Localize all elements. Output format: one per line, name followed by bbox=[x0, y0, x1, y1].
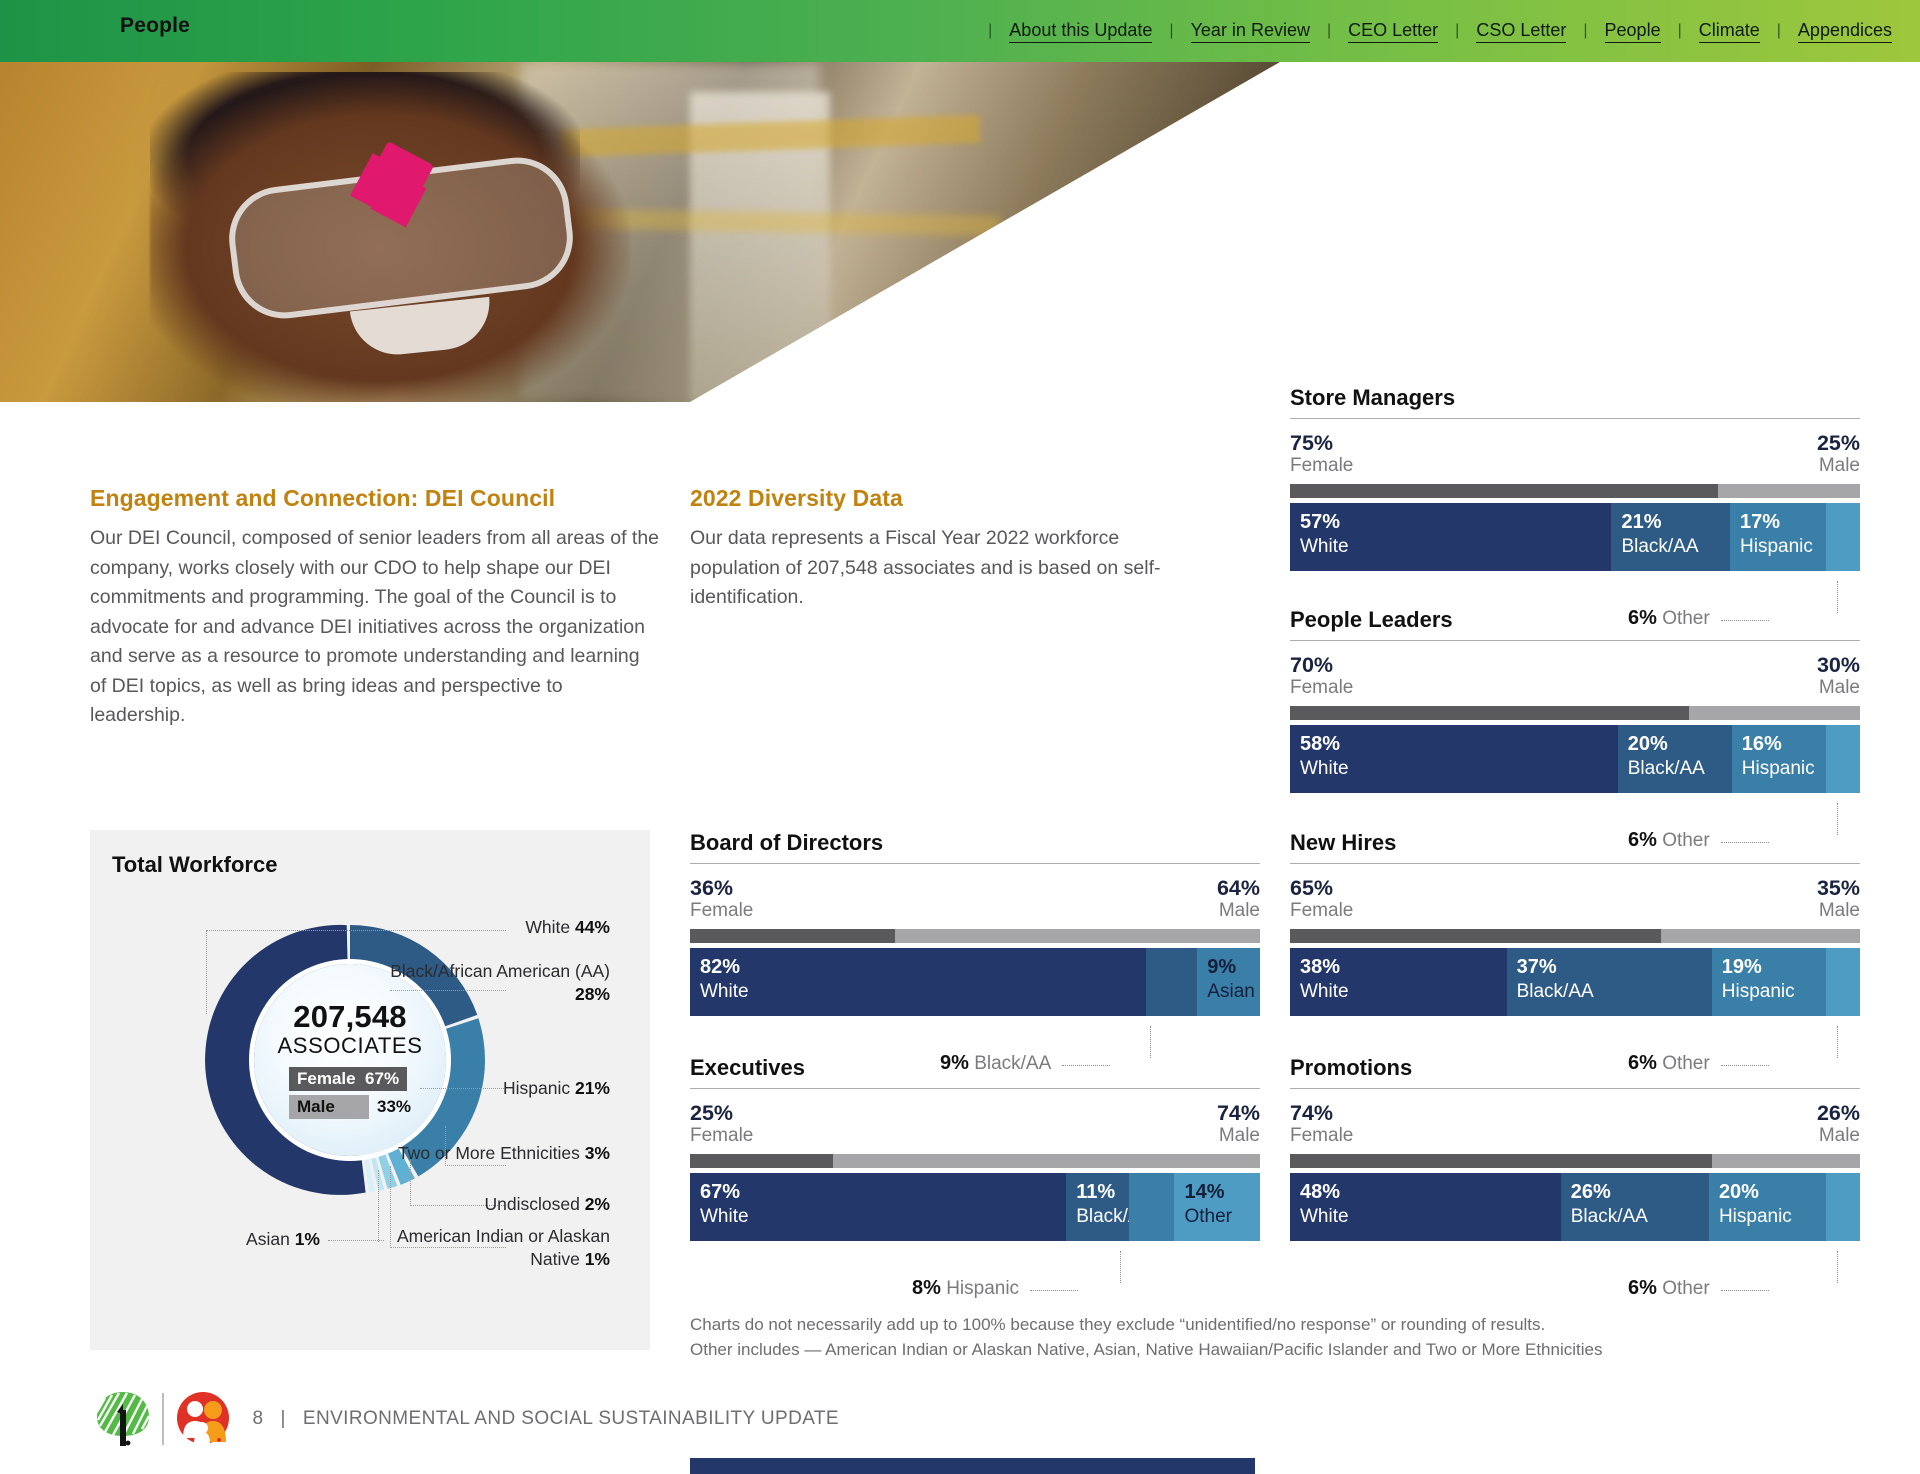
callout-dotted-line bbox=[1721, 1290, 1769, 1291]
segment-percent: 11% bbox=[1076, 1181, 1115, 1204]
donut-leader-two-or-more bbox=[445, 1165, 506, 1166]
segment-label: Hispanic bbox=[1719, 1206, 1792, 1228]
chart-promotions: Promotions 74% Female 26% Male 48% White… bbox=[1290, 1055, 1860, 1241]
donut-label-two-or-more-value: 3% bbox=[585, 1143, 610, 1163]
nav-link-appendices[interactable]: Appendices bbox=[1798, 20, 1892, 43]
board-gender-labels: 36% Female 64% Male bbox=[690, 876, 1260, 921]
hero-right-fill bbox=[1280, 62, 1920, 407]
segment-label: Black/AA bbox=[1076, 1206, 1129, 1228]
ethnicity-segment-black-aa: 20% Black/AA bbox=[1618, 725, 1732, 793]
segment-percent: 21% bbox=[1621, 511, 1661, 534]
footnote-line-2: Other includes — American Indian or Alas… bbox=[690, 1337, 1710, 1362]
gender-female-group: 25% Female bbox=[690, 1101, 753, 1146]
donut-label-undisclosed-text: Undisclosed bbox=[485, 1194, 580, 1214]
nav-link-year-in-review[interactable]: Year in Review bbox=[1191, 20, 1310, 43]
total-workforce-title: Total Workforce bbox=[112, 852, 277, 878]
ethnicity-segment-asian: 9% Asian bbox=[1197, 948, 1260, 1016]
nav-link-climate[interactable]: Climate bbox=[1699, 20, 1760, 43]
nav-link-ceo-letter[interactable]: CEO Letter bbox=[1348, 20, 1438, 43]
donut-label-two-or-more-text: Two or More Ethnicities bbox=[398, 1143, 580, 1163]
promotions-other-callout: 6% Other bbox=[1628, 1277, 1769, 1300]
gender-bar-male-segment bbox=[1661, 929, 1861, 943]
donut-label-asian-value: 1% bbox=[295, 1229, 320, 1249]
segment-label: Other bbox=[1184, 1206, 1232, 1228]
people-leaders-gender-bar bbox=[1290, 706, 1860, 720]
ethnicity-segment-white: 67% White bbox=[690, 1173, 1066, 1241]
store-managers-gender-bar bbox=[1290, 484, 1860, 498]
segment-label: Black/AA bbox=[1517, 981, 1594, 1003]
female-label: Female bbox=[690, 1125, 753, 1146]
divider-line bbox=[1290, 640, 1860, 641]
gender-bar-female-segment bbox=[1290, 706, 1689, 720]
callout-label: Hispanic bbox=[946, 1278, 1019, 1299]
ethnicity-segment-hispanic: 16% Hispanic bbox=[1732, 725, 1826, 793]
ethnicity-segment-white: 48% White bbox=[1290, 1173, 1561, 1241]
gender-bar-male-segment bbox=[833, 1154, 1261, 1168]
female-label: Female bbox=[1290, 677, 1353, 698]
segment-label: Hispanic bbox=[1722, 981, 1795, 1003]
promotions-gender-bar bbox=[1290, 1154, 1860, 1168]
gender-male-group: 64% Male bbox=[1217, 876, 1260, 921]
donut-label-hispanic: Hispanic 21% bbox=[390, 1077, 610, 1100]
male-label: Male bbox=[1817, 677, 1860, 698]
ethnicity-segment-white: 57% White bbox=[1290, 503, 1611, 571]
ethnicity-segment-white: 82% White bbox=[690, 948, 1146, 1016]
chart-new-hires: New Hires 65% Female 35% Male 38% White … bbox=[1290, 830, 1860, 1016]
dei-council-heading: Engagement and Connection: DEI Council bbox=[90, 485, 660, 512]
donut-male-chip: Male bbox=[289, 1095, 369, 1119]
segment-percent: 20% bbox=[1719, 1181, 1759, 1204]
nav-links: | About this Update | Year in Review | C… bbox=[971, 0, 1892, 62]
donut-label-white-value: 44% bbox=[575, 917, 610, 937]
male-percent: 25% bbox=[1817, 431, 1860, 455]
footer-page-number: 8 bbox=[253, 1408, 264, 1429]
gender-bar-female-segment bbox=[1290, 1154, 1712, 1168]
gender-male-group: 30% Male bbox=[1817, 653, 1860, 698]
gender-bar-male-segment bbox=[1718, 484, 1861, 498]
male-percent: 30% bbox=[1817, 653, 1860, 677]
segment-percent: 38% bbox=[1300, 956, 1340, 979]
footnote-line-1: Charts do not necessarily add up to 100%… bbox=[690, 1312, 1710, 1337]
male-percent: 64% bbox=[1217, 876, 1260, 900]
top-navigation-bar: People | About this Update | Year in Rev… bbox=[0, 0, 1920, 62]
gender-female-group: 74% Female bbox=[1290, 1101, 1353, 1146]
donut-label-american-indian-value: 1% bbox=[585, 1249, 610, 1269]
segment-percent: 48% bbox=[1300, 1181, 1340, 1204]
segment-label: White bbox=[1300, 1206, 1349, 1228]
divider-line bbox=[690, 1088, 1260, 1089]
gender-bar-male-segment bbox=[1712, 1154, 1860, 1168]
executives-hispanic-callout: 8% Hispanic bbox=[912, 1277, 1078, 1300]
executives-gender-labels: 25% Female 74% Male bbox=[690, 1101, 1260, 1146]
ethnicity-segment-hispanic: 20% Hispanic bbox=[1709, 1173, 1826, 1241]
gender-bar-female-segment bbox=[690, 929, 895, 943]
ethnicity-segment-black-aa: 11% Black/AA bbox=[1066, 1173, 1129, 1241]
segment-percent: 17% bbox=[1740, 511, 1780, 534]
gender-bar-male-segment bbox=[895, 929, 1260, 943]
donut-female-label: Female bbox=[297, 1069, 356, 1088]
gender-male-group: 26% Male bbox=[1817, 1101, 1860, 1146]
female-percent: 36% bbox=[690, 876, 753, 900]
donut-leader-white-vert bbox=[206, 930, 207, 1014]
total-workforce-panel: Total Workforce 207,548 ASSOCIATES bbox=[90, 830, 650, 1350]
footer-title: ENVIRONMENTAL AND SOCIAL SUSTAINABILITY … bbox=[303, 1408, 839, 1429]
female-label: Female bbox=[1290, 1125, 1353, 1146]
footer-divider: | bbox=[281, 1408, 286, 1429]
donut-label-white-text: White bbox=[525, 917, 570, 937]
donut-label-american-indian: American Indian or Alaskan Native 1% bbox=[370, 1225, 610, 1271]
female-percent: 75% bbox=[1290, 431, 1353, 455]
male-label: Male bbox=[1217, 900, 1260, 921]
donut-label-asian-text: Asian bbox=[246, 1229, 290, 1249]
logo-divider bbox=[162, 1393, 164, 1445]
segment-percent: 16% bbox=[1742, 733, 1782, 756]
executives-title: Executives bbox=[690, 1055, 1260, 1081]
store-managers-gender-labels: 75% Female 25% Male bbox=[1290, 431, 1860, 476]
tree-logo-icon bbox=[95, 1390, 151, 1448]
gender-bar-female-segment bbox=[1290, 929, 1661, 943]
footer-text: 8 | ENVIRONMENTAL AND SOCIAL SUSTAINABIL… bbox=[253, 1408, 840, 1430]
segment-label: White bbox=[1300, 536, 1349, 558]
nav-separator: | bbox=[1310, 22, 1348, 40]
dei-council-body: Our DEI Council, composed of senior lead… bbox=[90, 524, 660, 731]
ethnicity-segment-other bbox=[1826, 503, 1860, 571]
donut-male-value: 33% bbox=[377, 1097, 411, 1117]
promotions-gender-labels: 74% Female 26% Male bbox=[1290, 1101, 1860, 1146]
segment-label: Hispanic bbox=[1742, 758, 1815, 780]
donut-label-undisclosed-value: 2% bbox=[585, 1194, 610, 1214]
gender-bar-female-segment bbox=[690, 1154, 833, 1168]
segment-percent: 57% bbox=[1300, 511, 1340, 534]
segment-label: Asian bbox=[1207, 981, 1255, 1003]
dei-council-section: Engagement and Connection: DEI Council O… bbox=[90, 485, 660, 731]
executives-gender-bar bbox=[690, 1154, 1260, 1168]
segment-label: White bbox=[700, 1206, 749, 1228]
male-percent: 26% bbox=[1817, 1101, 1860, 1125]
ethnicity-segment-white: 58% White bbox=[1290, 725, 1618, 793]
diversity-data-body: Our data represents a Fiscal Year 2022 w… bbox=[690, 524, 1210, 613]
ethnicity-segment-other bbox=[1826, 1173, 1860, 1241]
female-percent: 25% bbox=[690, 1101, 753, 1125]
nav-link-cso-letter[interactable]: CSO Letter bbox=[1476, 20, 1566, 43]
segment-percent: 9% bbox=[1207, 956, 1236, 979]
segment-label: White bbox=[700, 981, 749, 1003]
segment-percent: 14% bbox=[1184, 1181, 1224, 1204]
board-of-directors-title: Board of Directors bbox=[690, 830, 1260, 856]
ethnicity-segment-hispanic bbox=[1129, 1173, 1175, 1241]
ethnicity-segment-black-aa: 37% Black/AA bbox=[1507, 948, 1712, 1016]
board-gender-bar bbox=[690, 929, 1260, 943]
callout-dotted-line bbox=[1030, 1290, 1078, 1291]
new-hires-gender-labels: 65% Female 35% Male bbox=[1290, 876, 1860, 921]
female-label: Female bbox=[690, 900, 753, 921]
female-label: Female bbox=[1290, 900, 1353, 921]
gender-bar-male-segment bbox=[1689, 706, 1860, 720]
segment-percent: 82% bbox=[700, 956, 740, 979]
segment-label: White bbox=[1300, 758, 1349, 780]
male-percent: 74% bbox=[1217, 1101, 1260, 1125]
promotions-title: Promotions bbox=[1290, 1055, 1860, 1081]
female-percent: 65% bbox=[1290, 876, 1353, 900]
ethnicity-segment-black-aa: 21% Black/AA bbox=[1611, 503, 1730, 571]
segment-percent: 26% bbox=[1571, 1181, 1611, 1204]
segment-percent: 19% bbox=[1722, 956, 1762, 979]
segment-percent: 67% bbox=[700, 1181, 740, 1204]
chart-people-leaders: People Leaders 70% Female 30% Male 58% W… bbox=[1290, 607, 1860, 793]
gender-male-group: 74% Male bbox=[1217, 1101, 1260, 1146]
female-percent: 74% bbox=[1290, 1101, 1353, 1125]
donut-label-white: White 44% bbox=[400, 916, 610, 939]
new-hires-ethnicity-bar: 38% White 37% Black/AA 19% Hispanic bbox=[1290, 948, 1860, 1016]
diversity-data-section: 2022 Diversity Data Our data represents … bbox=[690, 485, 1210, 613]
male-label: Male bbox=[1217, 1125, 1260, 1146]
segment-label: Hispanic bbox=[1740, 536, 1813, 558]
ethnicity-segment-other bbox=[1826, 725, 1860, 793]
gender-female-group: 75% Female bbox=[1290, 431, 1353, 476]
male-label: Male bbox=[1817, 455, 1860, 476]
divider-line bbox=[690, 863, 1260, 864]
donut-label-undisclosed: Undisclosed 2% bbox=[390, 1193, 610, 1216]
gender-bar-female-segment bbox=[1290, 484, 1718, 498]
donut-label-black-aa: Black/African American (AA) 28% bbox=[370, 960, 610, 1006]
gender-female-group: 65% Female bbox=[1290, 876, 1353, 921]
callout-leader-vertical bbox=[1837, 1026, 1838, 1058]
executives-ethnicity-bar: 67% White 11% Black/AA 14% Other bbox=[690, 1173, 1260, 1241]
segment-label: Black/AA bbox=[1571, 1206, 1648, 1228]
segment-label: Black/AA bbox=[1628, 758, 1705, 780]
nav-separator: | bbox=[1152, 22, 1190, 40]
divider-line bbox=[1290, 418, 1860, 419]
ethnicity-segment-hispanic: 17% Hispanic bbox=[1730, 503, 1826, 571]
callout-leader-vertical bbox=[1837, 1251, 1838, 1283]
callout-leader-vertical bbox=[1120, 1251, 1121, 1283]
ethnicity-segment-other bbox=[1826, 948, 1860, 1016]
nav-page-title: People bbox=[120, 14, 190, 38]
promotions-ethnicity-bar: 48% White 26% Black/AA 20% Hispanic bbox=[1290, 1173, 1860, 1241]
callout-percent: 8% bbox=[912, 1277, 941, 1299]
new-hires-gender-bar bbox=[1290, 929, 1860, 943]
ethnicity-segment-black-aa: 26% Black/AA bbox=[1561, 1173, 1709, 1241]
chart-footnotes: Charts do not necessarily add up to 100%… bbox=[690, 1312, 1710, 1362]
male-percent: 35% bbox=[1817, 876, 1860, 900]
donut-label-hispanic-value: 21% bbox=[575, 1078, 610, 1098]
divider-line bbox=[1290, 863, 1860, 864]
gender-female-group: 36% Female bbox=[690, 876, 753, 921]
female-percent: 70% bbox=[1290, 653, 1353, 677]
family-logo-icon bbox=[175, 1390, 231, 1448]
donut-label-two-or-more: Two or More Ethnicities 3% bbox=[380, 1142, 610, 1165]
donut-label-american-indian-text: American Indian or Alaskan Native bbox=[397, 1226, 610, 1269]
chart-executives: Executives 25% Female 74% Male 67% White… bbox=[690, 1055, 1260, 1241]
segment-label: Black/AA bbox=[1621, 536, 1698, 558]
ethnicity-segment-black-aa bbox=[1146, 948, 1197, 1016]
male-label: Male bbox=[1817, 900, 1860, 921]
ethnicity-segment-hispanic: 19% Hispanic bbox=[1712, 948, 1826, 1016]
divider-line bbox=[1290, 1088, 1860, 1089]
nav-separator: | bbox=[971, 22, 1009, 40]
donut-label-asian: Asian 1% bbox=[180, 1228, 320, 1251]
nav-link-about-this-update[interactable]: About this Update bbox=[1009, 20, 1152, 43]
callout-label: Other bbox=[1662, 1278, 1710, 1299]
nav-separator: | bbox=[1566, 22, 1604, 40]
segment-percent: 58% bbox=[1300, 733, 1340, 756]
diversity-data-heading: 2022 Diversity Data bbox=[690, 485, 1210, 512]
nav-separator: | bbox=[1661, 22, 1699, 40]
segment-percent: 20% bbox=[1628, 733, 1668, 756]
gender-male-group: 25% Male bbox=[1817, 431, 1860, 476]
people-leaders-gender-labels: 70% Female 30% Male bbox=[1290, 653, 1860, 698]
associates-word: ASSOCIATES bbox=[278, 1033, 423, 1059]
people-leaders-ethnicity-bar: 58% White 20% Black/AA 16% Hispanic bbox=[1290, 725, 1860, 793]
callout-percent: 6% bbox=[1628, 1277, 1657, 1299]
page-footer: 8 | ENVIRONMENTAL AND SOCIAL SUSTAINABIL… bbox=[95, 1390, 839, 1448]
nav-link-people[interactable]: People bbox=[1605, 20, 1661, 43]
segment-label: White bbox=[1300, 981, 1349, 1003]
nav-separator: | bbox=[1760, 22, 1798, 40]
male-label: Male bbox=[1817, 1125, 1860, 1146]
gender-female-group: 70% Female bbox=[1290, 653, 1353, 698]
chart-board-of-directors: Board of Directors 36% Female 64% Male 8… bbox=[690, 830, 1260, 1016]
female-label: Female bbox=[1290, 455, 1353, 476]
ethnicity-segment-other: 14% Other bbox=[1174, 1173, 1260, 1241]
new-hires-title: New Hires bbox=[1290, 830, 1860, 856]
callout-leader-vertical bbox=[1150, 1026, 1151, 1058]
store-managers-ethnicity-bar: 57% White 21% Black/AA 17% Hispanic bbox=[1290, 503, 1860, 571]
segment-percent: 37% bbox=[1517, 956, 1557, 979]
bottom-navy-bar bbox=[690, 1458, 1255, 1474]
chart-store-managers: Store Managers 75% Female 25% Male 57% W… bbox=[1290, 385, 1860, 571]
donut-label-black-aa-value: 28% bbox=[575, 984, 610, 1004]
donut-label-hispanic-text: Hispanic bbox=[503, 1078, 570, 1098]
ethnicity-segment-white: 38% White bbox=[1290, 948, 1507, 1016]
nav-separator: | bbox=[1438, 22, 1476, 40]
store-managers-title: Store Managers bbox=[1290, 385, 1860, 411]
donut-label-black-aa-text: Black/African American (AA) bbox=[390, 961, 610, 981]
board-ethnicity-bar: 82% White 9% Asian bbox=[690, 948, 1260, 1016]
gender-male-group: 35% Male bbox=[1817, 876, 1860, 921]
people-leaders-title: People Leaders bbox=[1290, 607, 1860, 633]
